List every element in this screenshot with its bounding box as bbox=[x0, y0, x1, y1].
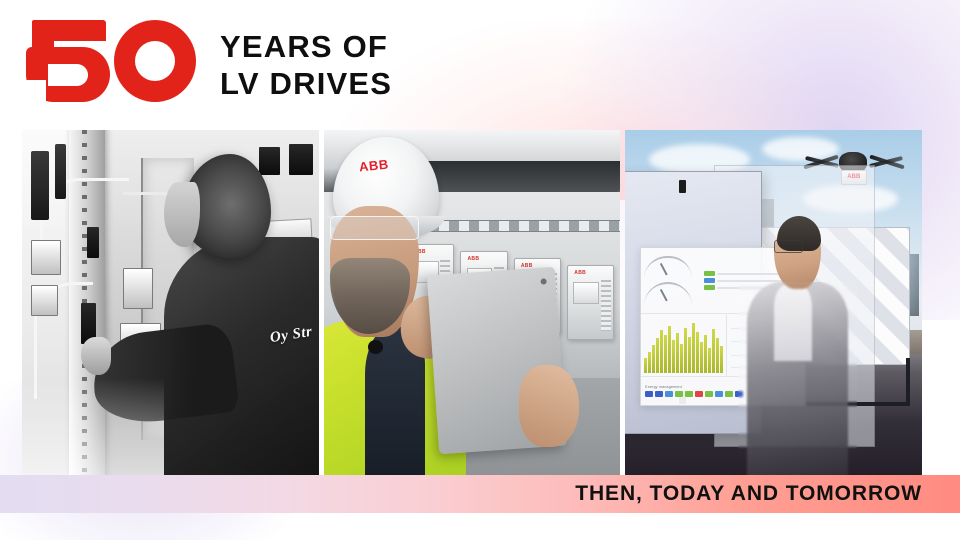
bar bbox=[660, 330, 663, 372]
bar bbox=[712, 329, 715, 372]
bar bbox=[676, 333, 679, 373]
gauge-group bbox=[644, 251, 701, 310]
bar bbox=[708, 348, 711, 372]
bar bbox=[672, 340, 675, 373]
bar bbox=[704, 335, 707, 373]
swatch bbox=[705, 391, 713, 397]
swatch bbox=[655, 391, 663, 397]
digit-five-notch bbox=[26, 80, 46, 102]
terminal-block-1 bbox=[87, 227, 99, 258]
breaker-1 bbox=[31, 240, 61, 275]
bar bbox=[720, 346, 723, 373]
safety-glasses-icon bbox=[330, 216, 419, 240]
bar-chart bbox=[641, 314, 726, 376]
bar bbox=[692, 323, 695, 373]
bar bbox=[652, 345, 655, 373]
swatch bbox=[665, 391, 673, 397]
terminal-block-5 bbox=[289, 144, 313, 175]
digit-zero bbox=[114, 20, 196, 102]
motion-blur-overlay bbox=[738, 282, 857, 475]
poster-canvas: YEARS OF LV DRIVES bbox=[0, 0, 960, 540]
bar bbox=[696, 332, 699, 373]
bar bbox=[656, 338, 659, 373]
bar bbox=[648, 352, 651, 373]
gauge-2 bbox=[644, 282, 692, 306]
engineer-hand-holding bbox=[519, 365, 578, 448]
technician-face bbox=[164, 182, 200, 248]
drive-faceplate-4 bbox=[573, 282, 598, 304]
drive-vents-4 bbox=[601, 280, 611, 330]
status-chip-green-2 bbox=[704, 285, 715, 290]
tagline-text: THEN, TODAY AND TOMORROW bbox=[575, 482, 922, 506]
swatch bbox=[685, 391, 693, 397]
bar bbox=[680, 344, 683, 373]
anniversary-number-50 bbox=[26, 20, 198, 102]
swatch bbox=[725, 391, 733, 397]
technician-hand bbox=[81, 337, 111, 375]
headline: YEARS OF LV DRIVES bbox=[26, 20, 392, 102]
gauge-1 bbox=[644, 256, 692, 280]
panel-tomorrow: ABB bbox=[625, 130, 922, 475]
headline-line-1: YEARS OF bbox=[220, 28, 392, 65]
abb-drive-4: ABB bbox=[567, 265, 614, 341]
panel-then: Oy Str bbox=[22, 130, 319, 475]
bar bbox=[664, 335, 667, 373]
digit-five-top-bar bbox=[32, 20, 106, 41]
container-hinge-top bbox=[679, 180, 686, 193]
panel-today: ABB ABB ABB ABB ABB bbox=[324, 130, 621, 475]
terminal-block-4 bbox=[259, 147, 280, 175]
photo-fade bbox=[22, 378, 164, 475]
tagline-band: THEN, TODAY AND TOMORROW bbox=[0, 475, 960, 513]
conduit-2 bbox=[55, 144, 67, 199]
swatch bbox=[715, 391, 723, 397]
bar bbox=[668, 326, 671, 373]
breaker-3 bbox=[123, 268, 153, 309]
swatch bbox=[675, 391, 683, 397]
bar bbox=[716, 338, 719, 373]
bar bbox=[684, 328, 687, 373]
image-strip: Oy Str ABB ABB ABB bbox=[22, 130, 922, 475]
businessman-glasses-icon bbox=[774, 240, 804, 252]
conduit-1 bbox=[31, 151, 49, 220]
bar bbox=[688, 337, 691, 373]
swatch bbox=[695, 391, 703, 397]
status-chip-green-1 bbox=[704, 271, 715, 276]
abb-logo-hard-hat: ABB bbox=[359, 156, 390, 174]
digit-five-counter bbox=[48, 64, 88, 86]
headline-text-block: YEARS OF LV DRIVES bbox=[220, 20, 392, 102]
drive-logo-4: ABB bbox=[574, 270, 586, 276]
drive-logo-2: ABB bbox=[468, 256, 480, 262]
bar bbox=[644, 358, 647, 372]
status-chip-blue-1 bbox=[704, 278, 715, 283]
headline-line-2: LV DRIVES bbox=[220, 65, 392, 102]
digit-five bbox=[26, 20, 110, 102]
bar bbox=[700, 342, 703, 373]
swatch bbox=[645, 391, 653, 397]
breaker-2 bbox=[31, 285, 58, 316]
